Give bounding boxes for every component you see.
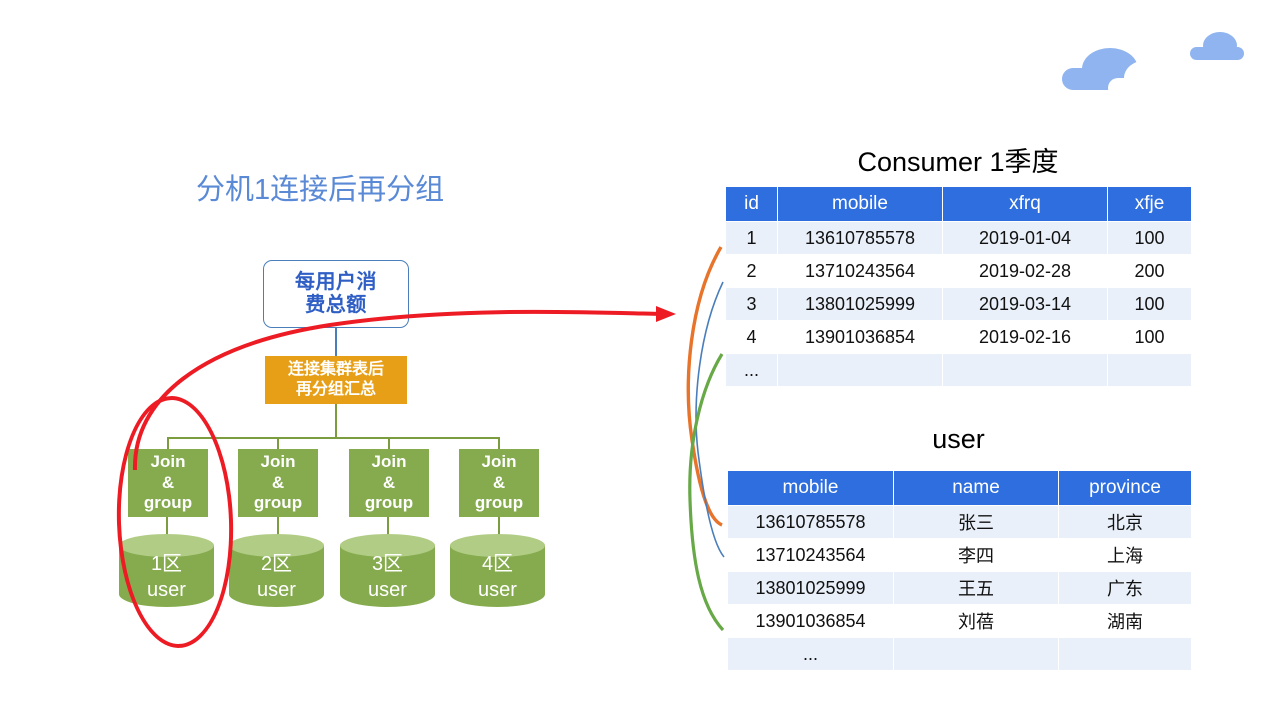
cell-name: 王五 [894, 572, 1059, 605]
join-link-curve-blue [696, 282, 724, 557]
cell-province: 广东 [1059, 572, 1192, 605]
connector-vertical-mid [335, 404, 337, 438]
connector-horizontal-bus [167, 437, 500, 439]
cell-mobile: 13610785578 [778, 222, 943, 255]
connector-drop-3 [388, 437, 390, 449]
cell-id: 2 [726, 255, 778, 288]
cylinder-label-table: user [450, 578, 545, 604]
cell-mobile: 13710243564 [728, 539, 894, 572]
table-row-ellipsis[interactable]: ... [728, 638, 1192, 671]
node-join-group-2[interactable]: Join & group [238, 449, 318, 517]
node-join-regroup-line2: 再分组汇总 [288, 380, 384, 400]
cell-empty [943, 354, 1108, 387]
column-header-province[interactable]: province [1059, 471, 1192, 506]
cylinder-label-table: user [340, 578, 435, 604]
cell-xfje: 100 [1108, 321, 1192, 354]
cell-mobile: 13901036854 [728, 605, 894, 638]
table-row[interactable]: 3 13801025999 2019-03-14 100 [726, 288, 1192, 321]
cell-mobile: 13901036854 [778, 321, 943, 354]
cell-ellipsis: ... [728, 638, 894, 671]
table-row[interactable]: 4 13901036854 2019-02-16 100 [726, 321, 1192, 354]
cell-name: 张三 [894, 506, 1059, 539]
join-group-label: & [254, 473, 302, 494]
join-group-label: & [365, 473, 413, 494]
cell-id: 4 [726, 321, 778, 354]
column-header-mobile[interactable]: mobile [778, 187, 943, 222]
sparkle-icon [1139, 22, 1165, 52]
table-title-consumer: Consumer 1季度 [725, 140, 1191, 179]
slide-header-banner: 连接运算—外键连接-分机内连接图解 [0, 0, 1280, 105]
join-group-label: group [475, 493, 523, 514]
table-row[interactable]: 13801025999 王五 广东 [728, 572, 1192, 605]
cell-xfje: 200 [1108, 255, 1192, 288]
join-group-label: & [475, 473, 523, 494]
table-title-user: user [727, 424, 1190, 455]
cell-empty [778, 354, 943, 387]
node-total-consumption[interactable]: 每用户消 费总额 [263, 260, 409, 328]
join-link-curve-orange [688, 247, 722, 525]
cell-xfrq: 2019-01-04 [943, 222, 1108, 255]
cell-empty [894, 638, 1059, 671]
cell-mobile: 13801025999 [728, 572, 894, 605]
connector-drop-2 [277, 437, 279, 449]
cell-id: 3 [726, 288, 778, 321]
column-header-name[interactable]: name [894, 471, 1059, 506]
cell-mobile: 13710243564 [778, 255, 943, 288]
join-group-label: Join [254, 452, 302, 473]
table-row[interactable]: 13710243564 李四 上海 [728, 539, 1192, 572]
table-user[interactable]: mobile name province 13610785578 张三 北京 1… [727, 470, 1192, 671]
node-join-regroup[interactable]: 连接集群表后 再分组汇总 [265, 356, 407, 404]
diagram-title: 分机1连接后再分组 [196, 166, 444, 208]
cell-name: 刘蓓 [894, 605, 1059, 638]
table-consumer[interactable]: id mobile xfrq xfje 1 13610785578 2019-0… [725, 186, 1192, 387]
cell-mobile: 13610785578 [728, 506, 894, 539]
page-title: 连接运算—外键连接-分机内连接图解 [40, 26, 678, 81]
cell-province: 上海 [1059, 539, 1192, 572]
cylinder-label-table: user [229, 578, 324, 604]
node-total-consumption-line1: 每用户消 [295, 271, 377, 294]
join-group-label: group [254, 493, 302, 514]
node-join-group-3[interactable]: Join & group [349, 449, 429, 517]
table-header-row: mobile name province [728, 471, 1192, 506]
cell-xfje: 100 [1108, 222, 1192, 255]
cell-empty [1108, 354, 1192, 387]
cell-mobile: 13801025999 [778, 288, 943, 321]
cylinder-label-partition: 3区 [340, 552, 435, 578]
node-join-group-4[interactable]: Join & group [459, 449, 539, 517]
table-header-row: id mobile xfrq xfje [726, 187, 1192, 222]
cylinder-label-partition: 4区 [450, 552, 545, 578]
cell-xfrq: 2019-03-14 [943, 288, 1108, 321]
cell-xfrq: 2019-02-16 [943, 321, 1108, 354]
table-row[interactable]: 2 13710243564 2019-02-28 200 [726, 255, 1192, 288]
cell-empty [1059, 638, 1192, 671]
database-cylinder-3[interactable]: 3区 user [340, 534, 435, 612]
node-total-consumption-line2: 费总额 [295, 294, 377, 317]
database-cylinder-4[interactable]: 4区 user [450, 534, 545, 612]
connector-drop-4 [498, 437, 500, 449]
cell-name: 李四 [894, 539, 1059, 572]
node-join-regroup-line1: 连接集群表后 [288, 360, 384, 380]
database-cylinder-2[interactable]: 2区 user [229, 534, 324, 612]
connector-vertical-top [335, 328, 337, 356]
column-header-xfje[interactable]: xfje [1108, 187, 1192, 222]
column-header-xfrq[interactable]: xfrq [943, 187, 1108, 222]
join-group-label: Join [475, 452, 523, 473]
table-row[interactable]: 1 13610785578 2019-01-04 100 [726, 222, 1192, 255]
column-header-id[interactable]: id [726, 187, 778, 222]
cylinder-label-partition: 2区 [229, 552, 324, 578]
table-row[interactable]: 13610785578 张三 北京 [728, 506, 1192, 539]
column-header-mobile[interactable]: mobile [728, 471, 894, 506]
cell-province: 北京 [1059, 506, 1192, 539]
join-link-curve-green [690, 354, 723, 630]
cell-ellipsis: ... [726, 354, 778, 387]
table-row[interactable]: 13901036854 刘蓓 湖南 [728, 605, 1192, 638]
cell-id: 1 [726, 222, 778, 255]
join-group-label: group [365, 493, 413, 514]
cell-xfje: 100 [1108, 288, 1192, 321]
cell-xfrq: 2019-02-28 [943, 255, 1108, 288]
table-row-ellipsis[interactable]: ... [726, 354, 1192, 387]
join-group-label: Join [365, 452, 413, 473]
sparkle-icon [1225, 68, 1236, 81]
cell-province: 湖南 [1059, 605, 1192, 638]
red-arrow-head [656, 306, 676, 322]
